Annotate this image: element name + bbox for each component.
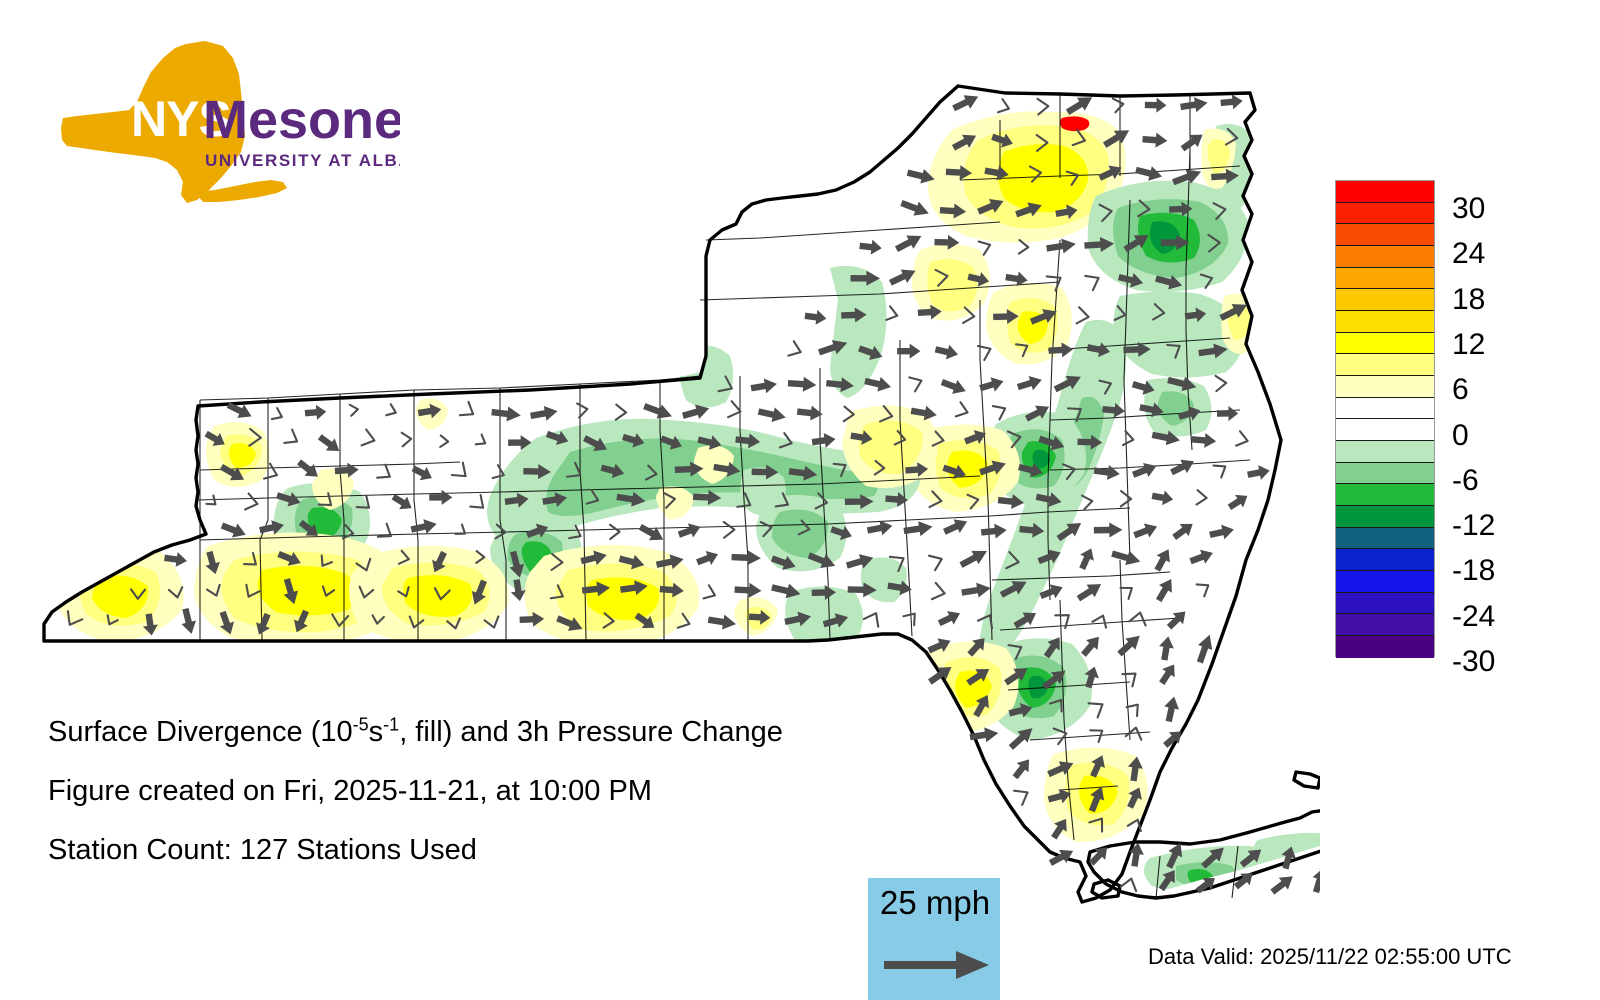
colorbar-band-1	[1336, 203, 1434, 225]
colorbar-band-19	[1336, 593, 1434, 615]
colorbar-band-17	[1336, 549, 1434, 571]
colorbar-tick-18: 18	[1452, 285, 1485, 315]
caption-title: Surface Divergence (10-5s-1, fill) and 3…	[48, 718, 948, 747]
colorbar-tick--30: -30	[1452, 647, 1495, 677]
colorbar-tick--24: -24	[1452, 602, 1495, 632]
colorbar-tick-labels: 3024181260-6-12-18-24-30	[1452, 168, 1572, 668]
colorbar-tick-24: 24	[1452, 239, 1485, 269]
colorbar-band-0	[1336, 181, 1434, 203]
colorbar-tick--18: -18	[1452, 556, 1495, 586]
colorbar-tick--6: -6	[1452, 466, 1479, 496]
caption-title-mid: s	[369, 716, 384, 748]
divergence-colorbar	[1335, 180, 1435, 657]
colorbar-band-2	[1336, 224, 1434, 246]
wind-arrow	[1121, 876, 1139, 891]
caption-title-exponent-2: -1	[383, 714, 399, 734]
colorbar-band-4	[1336, 268, 1434, 290]
colorbar-band-18	[1336, 571, 1434, 593]
colorbar-tick--12: -12	[1452, 511, 1495, 541]
colorbar-band-12	[1336, 441, 1434, 463]
colorbar-band-20	[1336, 614, 1434, 636]
colorbar-band-5	[1336, 289, 1434, 311]
colorbar-tick-0: 0	[1452, 421, 1469, 451]
colorbar-band-15	[1336, 506, 1434, 528]
colorbar-band-9	[1336, 376, 1434, 398]
weather-map-figure: NYS Mesonet UNIVERSITY AT ALBANY	[0, 0, 1600, 1000]
colorbar-tick-12: 12	[1452, 330, 1485, 360]
colorbar-band-11	[1336, 419, 1434, 441]
caption-created: Figure created on Fri, 2025-11-21, at 10…	[48, 777, 948, 806]
data-valid-timestamp: Data Valid: 2025/11/22 02:55:00 UTC	[1148, 946, 1512, 968]
wind-speed-key: 25 mph	[868, 878, 1000, 1000]
caption-title-post: , fill) and 3h Pressure Change	[399, 716, 783, 748]
colorbar-tick-30: 30	[1452, 194, 1485, 224]
colorbar-band-10	[1336, 398, 1434, 420]
colorbar-band-14	[1336, 484, 1434, 506]
colorbar-band-6	[1336, 311, 1434, 333]
wind-key-label: 25 mph	[880, 886, 990, 919]
colorbar-band-7	[1336, 333, 1434, 355]
colorbar-band-8	[1336, 354, 1434, 376]
colorbar-band-16	[1336, 528, 1434, 550]
colorbar-band-13	[1336, 463, 1434, 485]
figure-captions: Surface Divergence (10-5s-1, fill) and 3…	[48, 718, 948, 895]
caption-title-pre: Surface Divergence (10	[48, 716, 353, 748]
colorbar-band-21	[1336, 636, 1434, 658]
wind-key-arrow-icon	[884, 948, 989, 982]
caption-station-count: Station Count: 127 Stations Used	[48, 836, 948, 865]
colorbar-band-3	[1336, 246, 1434, 268]
colorbar-tick-6: 6	[1452, 375, 1469, 405]
caption-title-exponent-1: -5	[353, 714, 369, 734]
